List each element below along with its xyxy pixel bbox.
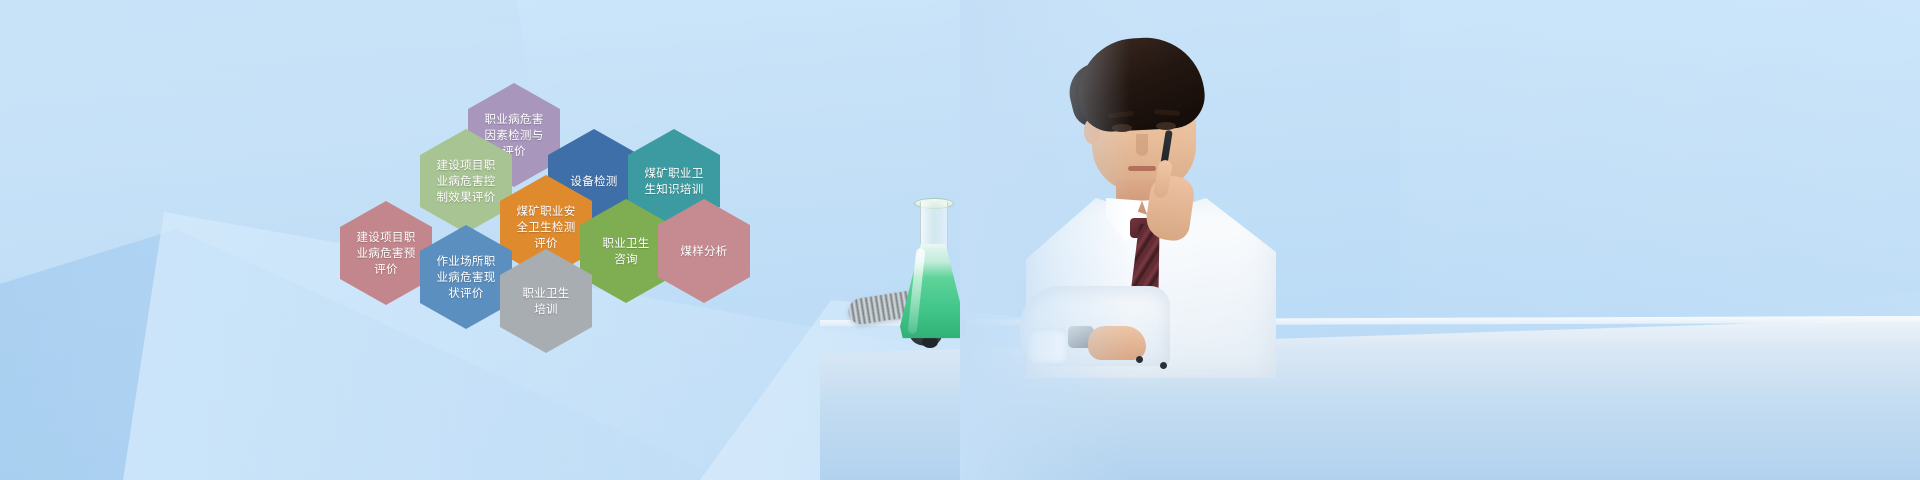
hexagon-label: 煤矿职业安全卫生检测评价	[517, 203, 576, 251]
person-mouth	[1128, 166, 1156, 171]
flask-neck	[920, 202, 948, 248]
person-shirt-button-1	[1136, 356, 1143, 363]
person-hair	[1076, 35, 1207, 133]
desk-surface	[820, 318, 1920, 480]
person-left-hand	[1088, 326, 1146, 360]
hexagon-label: 职业卫生培训	[522, 285, 569, 317]
person-eye-right	[1156, 122, 1176, 130]
hexagon-label: 建设项目职业病危害预评价	[357, 229, 416, 277]
person-photo	[1010, 38, 1280, 338]
hexagon-label: 煤矿职业卫生知识培训	[645, 165, 704, 197]
hex-construction-pre-assessment[interactable]: 建设项目职业病危害预评价	[340, 201, 432, 305]
person-nose	[1136, 134, 1148, 156]
person-shirt-button-2	[1160, 362, 1167, 369]
flask-icon	[898, 196, 970, 344]
hexagon-cluster: 职业病危害因素检测与评价设备检测煤矿职业卫生知识培训建设项目职业病危害控制效果评…	[340, 55, 760, 345]
hexagon-label: 职业卫生咨询	[602, 235, 649, 267]
banner: 职业病危害因素检测与评价设备检测煤矿职业卫生知识培训建设项目职业病危害控制效果评…	[0, 0, 1920, 480]
person-eye-left	[1112, 124, 1132, 132]
hex-workplace-current-status[interactable]: 作业场所职业病危害现状评价	[420, 225, 512, 329]
person-cuff	[1028, 328, 1068, 364]
hex-occupational-health-training[interactable]: 职业卫生培训	[500, 249, 592, 353]
hexagon-label: 煤样分析	[680, 243, 727, 259]
hexagon-label: 建设项目职业病危害控制效果评价	[437, 157, 496, 205]
hexagon-label: 作业场所职业病危害现状评价	[437, 253, 496, 301]
hexagon-label: 设备检测	[570, 173, 617, 189]
